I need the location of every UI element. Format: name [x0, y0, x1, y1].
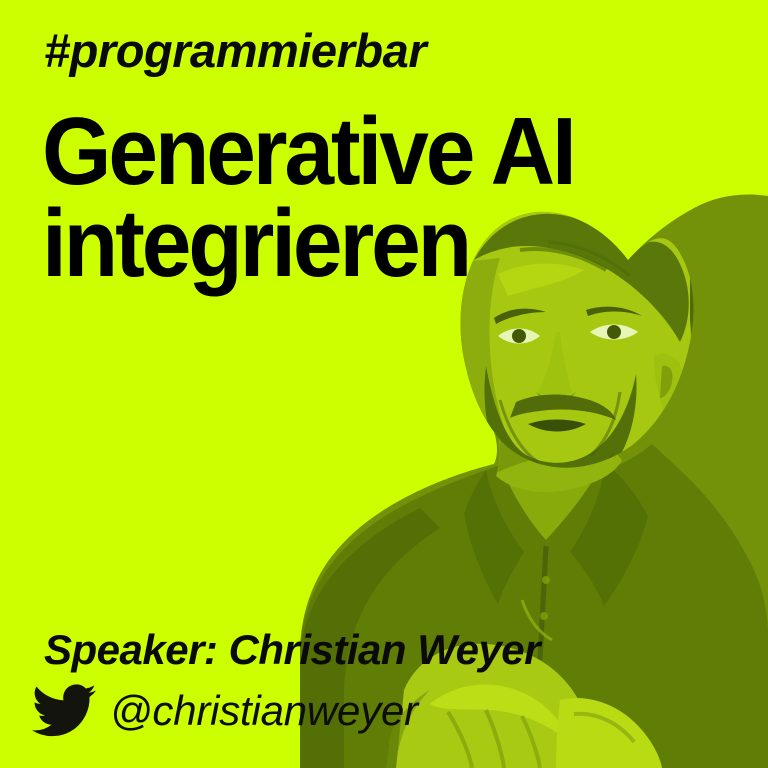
title-line-2: integrieren — [42, 198, 574, 290]
twitter-handle-text[interactable]: @christianweyer — [110, 687, 418, 735]
twitter-bird-icon[interactable] — [32, 684, 96, 738]
podcast-episode-card: #programmierbar Generative AI integriere… — [0, 0, 768, 768]
social-handle-row[interactable]: @christianweyer — [32, 684, 418, 738]
speaker-label: Speaker: Christian Weyer — [44, 626, 540, 674]
title-line-1: Generative AI — [42, 106, 574, 198]
page-title: Generative AI integrieren — [42, 106, 614, 290]
brand-hashtag: #programmierbar — [44, 23, 426, 78]
